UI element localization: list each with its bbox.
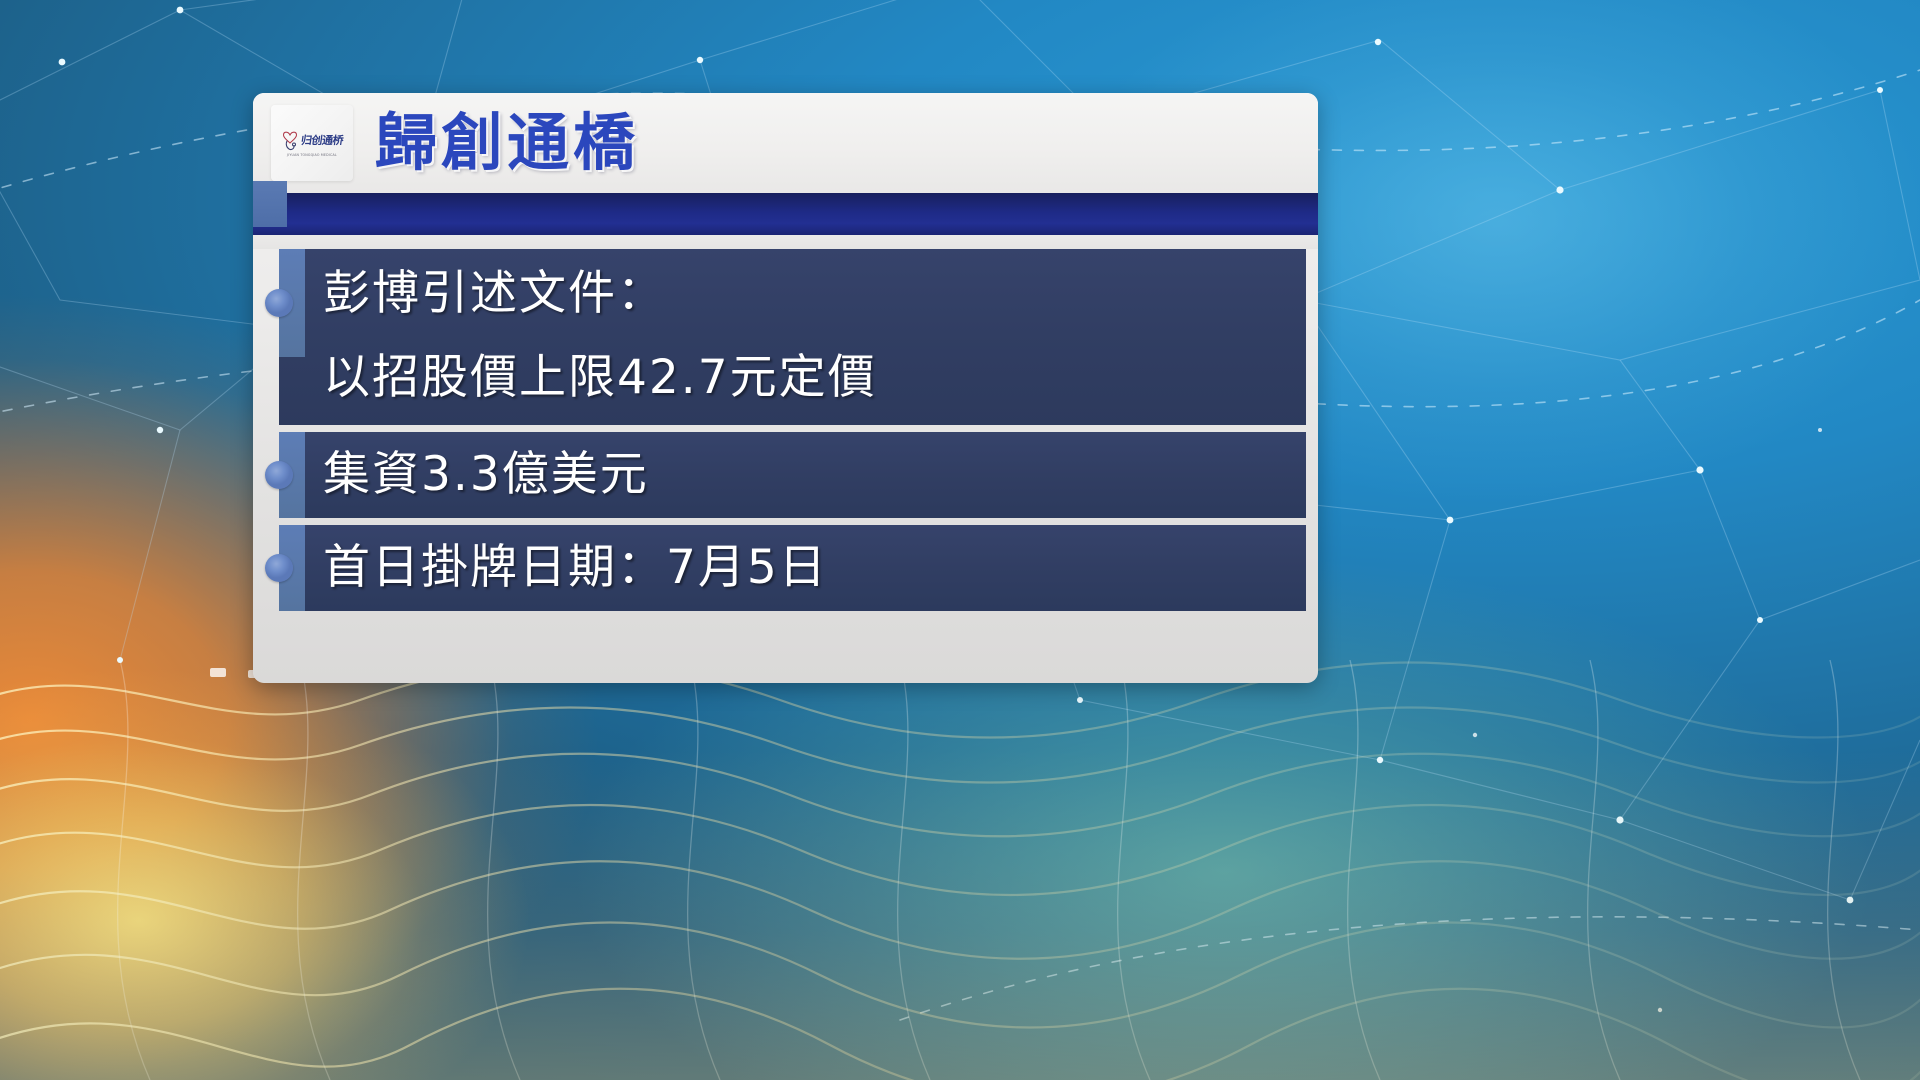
background-bottom-tint bbox=[0, 750, 1920, 1080]
list-item: 彭博引述文件： 以招股價上限42.7元定價 bbox=[279, 249, 1306, 425]
bullet-dot-icon bbox=[265, 461, 293, 489]
logo-row: 归创通桥 bbox=[282, 129, 343, 151]
header-divider-gap bbox=[253, 235, 1318, 249]
logo-subtext: JIYUAN TONGQIAO MEDICAL bbox=[287, 153, 337, 157]
header-navy-bar bbox=[253, 193, 1318, 235]
list-item-text: 集資3.3億美元 bbox=[323, 441, 649, 509]
list-item-text: 首日掛牌日期：7月5日 bbox=[323, 534, 828, 602]
company-logo-tile: 归创通桥 JIYUAN TONGQIAO MEDICAL bbox=[271, 105, 353, 181]
panel-footer-space bbox=[253, 611, 1318, 679]
heart-stethoscope-icon bbox=[282, 129, 299, 151]
bullet-dot-icon bbox=[265, 289, 293, 317]
list-item: 集資3.3億美元 bbox=[279, 432, 1306, 518]
bullet-list: 彭博引述文件： 以招股價上限42.7元定價 集資3.3億美元 首日掛牌日期：7月… bbox=[253, 249, 1318, 611]
news-graphic-panel: 归创通桥 JIYUAN TONGQIAO MEDICAL 歸創通橋 彭博引述文件… bbox=[253, 93, 1318, 683]
header-navy-bar-tab bbox=[253, 181, 287, 227]
bullet-dot-icon bbox=[265, 554, 293, 582]
logo-wordmark: 归创通桥 bbox=[300, 135, 344, 146]
list-item-text: 彭博引述文件： 以招股價上限42.7元定價 bbox=[323, 252, 877, 420]
list-item: 首日掛牌日期：7月5日 bbox=[279, 525, 1306, 611]
panel-header: 归创通桥 JIYUAN TONGQIAO MEDICAL 歸創通橋 bbox=[253, 93, 1318, 193]
page-title: 歸創通橋 bbox=[375, 112, 639, 174]
